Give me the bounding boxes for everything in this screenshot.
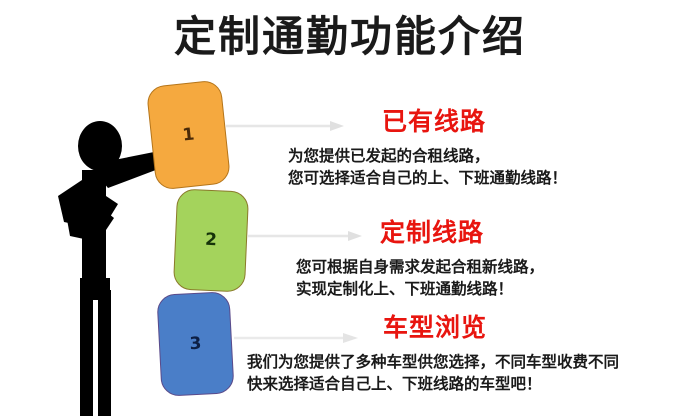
- feature-1-body: 为您提供已发起的合租线路， 您可选择适合自己的上、下班通勤线路！: [288, 145, 567, 190]
- feature-3-body-line-2: 快来选择适合自己上、下班线路的车型吧！: [247, 373, 619, 395]
- feature-1-body-line-1: 为您提供已发起的合租线路，: [288, 145, 567, 167]
- step-box-3[interactable]: 3: [156, 291, 234, 397]
- feature-3-heading: 车型浏览: [383, 314, 619, 342]
- feature-section-1: 已有线路 为您提供已发起的合租线路， 您可选择适合自己的上、下班通勤线路！: [288, 108, 567, 189]
- step-box-3-number: 3: [189, 335, 202, 353]
- step-box-1-number: 1: [182, 126, 196, 144]
- feature-1-heading: 已有线路: [382, 108, 567, 136]
- feature-3-body-line-1: 我们为您提供了多种车型供您选择，不同车型收费不同: [247, 351, 619, 373]
- page-title: 定制通勤功能介绍: [0, 14, 700, 60]
- feature-2-heading: 定制线路: [380, 219, 544, 247]
- feature-1-body-line-2: 您可选择适合自己的上、下班通勤线路！: [288, 167, 567, 189]
- feature-3-body: 我们为您提供了多种车型供您选择，不同车型收费不同 快来选择适合自己上、下班线路的…: [247, 351, 619, 396]
- step-box-2[interactable]: 2: [173, 188, 249, 292]
- poster-canvas: 定制通勤功能介绍 1 2 3: [0, 0, 700, 420]
- feature-2-body-line-1: 您可根据自身需求发起合租新线路，: [296, 256, 544, 278]
- step-box-1[interactable]: 1: [146, 79, 231, 190]
- feature-section-2: 定制线路 您可根据自身需求发起合租新线路， 实现定制化上、下班通勤线路！: [296, 219, 544, 300]
- feature-2-body-line-2: 实现定制化上、下班通勤线路！: [296, 278, 544, 300]
- feature-2-body: 您可根据自身需求发起合租新线路， 实现定制化上、下班通勤线路！: [296, 256, 544, 301]
- feature-section-3: 车型浏览 我们为您提供了多种车型供您选择，不同车型收费不同 快来选择适合自己上、…: [247, 314, 619, 395]
- step-box-2-number: 2: [205, 232, 218, 250]
